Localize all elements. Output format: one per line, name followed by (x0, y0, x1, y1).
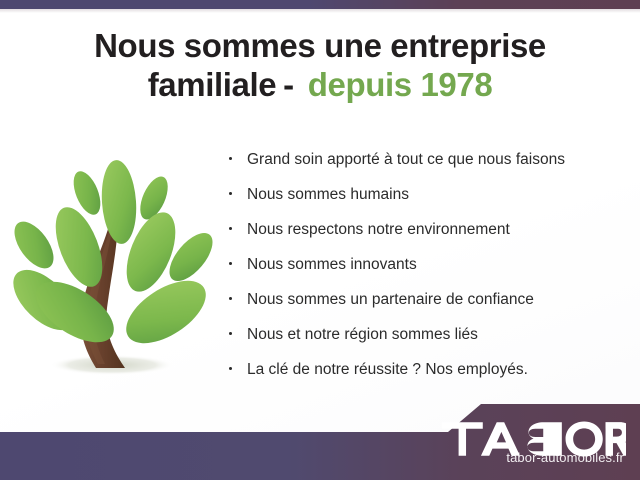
brand-logo[interactable]: tabor-automobiles.fr (440, 412, 626, 466)
list-item-label: Nous sommes un partenaire de confiance (247, 291, 534, 308)
tree-leaf (8, 215, 61, 275)
presentation-slide: Nous sommes une entreprise familiale-dep… (0, 0, 640, 480)
list-item-label: Nous sommes humains (247, 186, 409, 203)
list-item: Nous sommes un partenaire de confiance (228, 290, 628, 309)
tree-leaf (99, 159, 139, 245)
bullet-dot (229, 262, 232, 265)
title-line-1: Nous sommes une entreprise (18, 26, 622, 65)
bullet-dot (229, 297, 232, 300)
top-accent-strip (0, 0, 640, 9)
bullet-dot (229, 367, 232, 370)
family-tree-illustration (8, 152, 222, 394)
footer-band: tabor-automobiles.fr (0, 392, 640, 480)
list-item-label: Grand soin apporté à tout ce que nous fa… (247, 151, 565, 168)
list-item-label: Nous sommes innovants (247, 256, 417, 273)
bullet-dot (229, 192, 232, 195)
list-item: Nous et notre région sommes liés (228, 325, 628, 344)
title-line-2-prefix: familiale (148, 66, 276, 103)
tabor-wordmark-icon (440, 412, 626, 448)
list-item-label: La clé de notre réussite ? Nos employés. (247, 361, 528, 378)
title-accent: depuis 1978 (308, 66, 493, 103)
bullet-dot (229, 227, 232, 230)
list-item-label: Nous et notre région sommes liés (247, 326, 478, 343)
top-accent-fade (0, 9, 640, 13)
list-item: La clé de notre réussite ? Nos employés. (228, 360, 628, 379)
list-item: Nous respectons notre environnement (228, 220, 628, 239)
list-item: Nous sommes innovants (228, 255, 628, 274)
benefits-list: Grand soin apporté à tout ce que nous fa… (228, 150, 628, 395)
list-item: Nous sommes humains (228, 185, 628, 204)
title-line-2: familiale-depuis 1978 (18, 65, 622, 104)
list-item: Grand soin apporté à tout ce que nous fa… (228, 150, 628, 169)
page-title: Nous sommes une entreprise familiale-dep… (0, 26, 640, 104)
list-item-label: Nous respectons notre environnement (247, 221, 510, 238)
title-dash: - (283, 66, 294, 103)
bullet-dot (229, 157, 232, 160)
bullet-dot (229, 332, 232, 335)
